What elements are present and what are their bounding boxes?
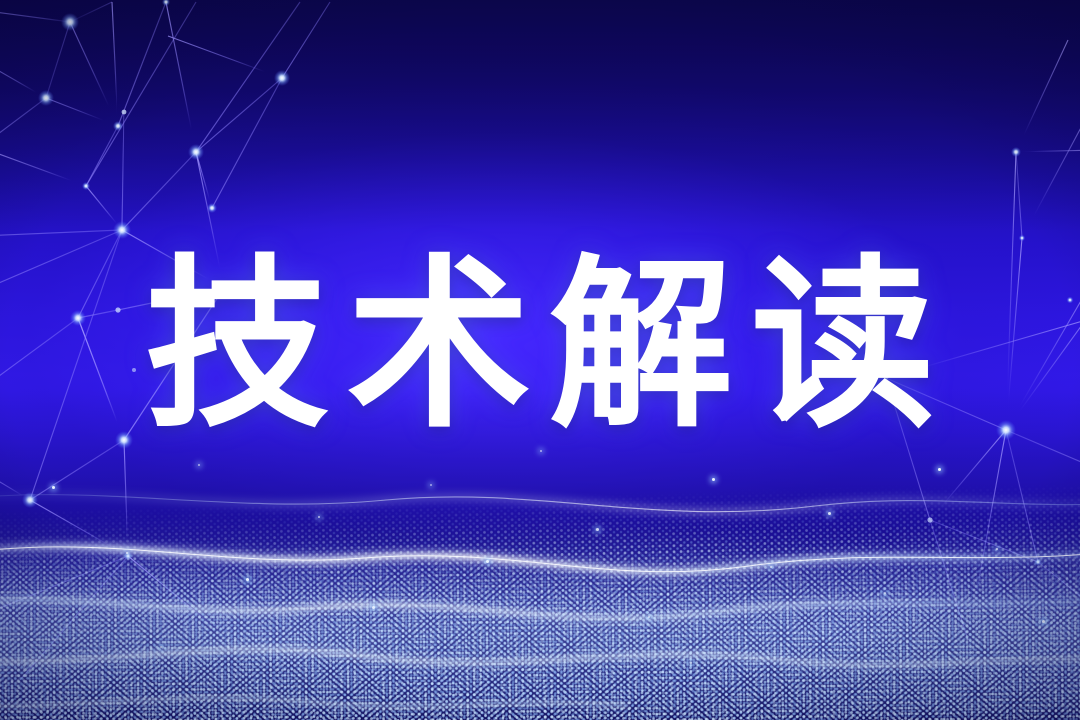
particle-wave-field xyxy=(0,420,1080,720)
title-char-4: 读 xyxy=(751,256,935,436)
title-char-2: 术 xyxy=(347,256,531,436)
banner-canvas: 技 术 解 读 xyxy=(0,0,1080,720)
wave-sparkle-particles xyxy=(0,420,1080,720)
title-char-1: 技 xyxy=(145,256,329,436)
title-char-3: 解 xyxy=(549,256,733,436)
banner-title: 技 术 解 读 xyxy=(0,246,1080,446)
